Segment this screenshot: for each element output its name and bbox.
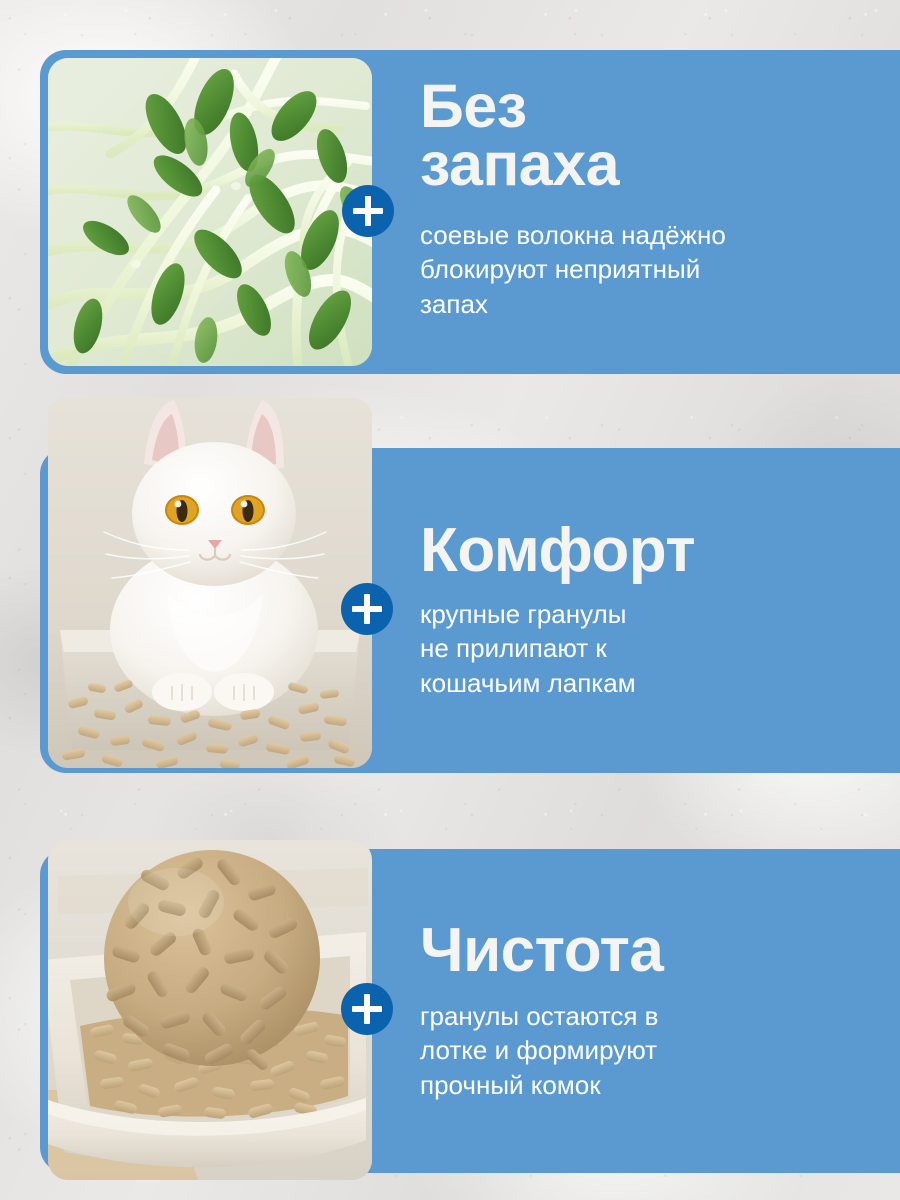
plus-icon [342,185,394,237]
plus-icon [341,583,393,635]
feature-headline: Без запаха [420,78,886,194]
feature-headline: Чистота [420,922,886,981]
feature-text-comfort: Комфорт крупные гранулы не прилипают к к… [420,522,886,701]
feature-subtext: соевые волокна надёжно блокируют неприят… [420,218,886,322]
feature-headline: Комфорт [420,522,886,581]
litter-clump-ball-photo [48,840,372,1180]
feature-subtext: крупные гранулы не прилипают к кошачьим … [420,597,886,701]
feature-subtext: гранулы остаются в лотке и формируют про… [420,999,886,1103]
feature-text-cleanliness: Чистота гранулы остаются в лотке и форми… [420,922,886,1103]
feature-text-no-odor: Без запаха соевые волокна надёжно блокир… [420,78,886,322]
white-cat-in-litter-box-photo [48,398,372,768]
infographic-page: Без запаха соевые волокна надёжно блокир… [0,0,900,1200]
soy-sprouts-photo [48,58,372,366]
plus-icon [341,983,393,1035]
